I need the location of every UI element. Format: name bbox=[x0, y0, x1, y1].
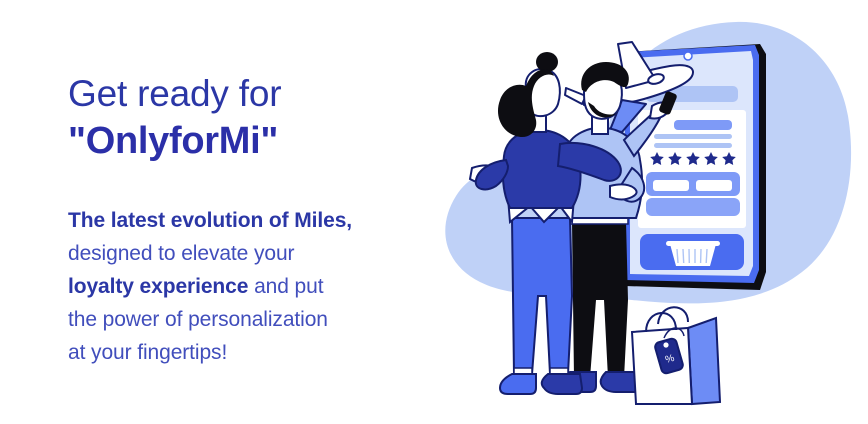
shopping-bag-handle-back bbox=[658, 307, 688, 324]
man-hand-hip bbox=[610, 184, 637, 199]
body-segment-4: the power of personalization bbox=[68, 308, 328, 331]
hero-illustration: % bbox=[420, 0, 868, 424]
woman-pants bbox=[512, 218, 572, 374]
headline-line1: Get ready for bbox=[68, 73, 281, 114]
body-segment-1: designed to elevate your bbox=[68, 242, 294, 265]
bed-pillow-left bbox=[653, 180, 689, 191]
body-segment-5: at your fingertips! bbox=[68, 341, 227, 364]
card-subtext-bar-2 bbox=[654, 143, 732, 148]
phone-camera-icon bbox=[684, 52, 692, 60]
bed-pillow-right bbox=[696, 180, 732, 191]
body-segment-0: The latest evolution of Miles, bbox=[68, 209, 352, 232]
body-segment-2: loyalty experience bbox=[68, 275, 248, 298]
promo-banner: Get ready for "OnlyforMi" The latest evo… bbox=[0, 0, 868, 424]
page-title: Get ready for "OnlyforMi" bbox=[68, 72, 468, 164]
shopping-bag: % bbox=[632, 307, 720, 404]
woman-shoe-right bbox=[542, 374, 582, 394]
brand-name: "OnlyforMi" bbox=[68, 118, 468, 164]
man-pants bbox=[572, 222, 628, 378]
bed-illustration bbox=[646, 172, 740, 216]
woman-shoe-left bbox=[500, 374, 536, 394]
body-segment-3: and put bbox=[254, 275, 323, 298]
card-subtext-bar-1 bbox=[654, 134, 732, 139]
shopping-bag-side bbox=[688, 318, 720, 404]
body-copy: The latest evolution of Miles, designed … bbox=[68, 204, 448, 369]
card-heading-bar bbox=[674, 120, 732, 130]
bed-mattress bbox=[646, 198, 740, 216]
woman-hair-bun bbox=[536, 52, 558, 72]
copy-block: Get ready for "OnlyforMi" The latest evo… bbox=[68, 72, 468, 164]
